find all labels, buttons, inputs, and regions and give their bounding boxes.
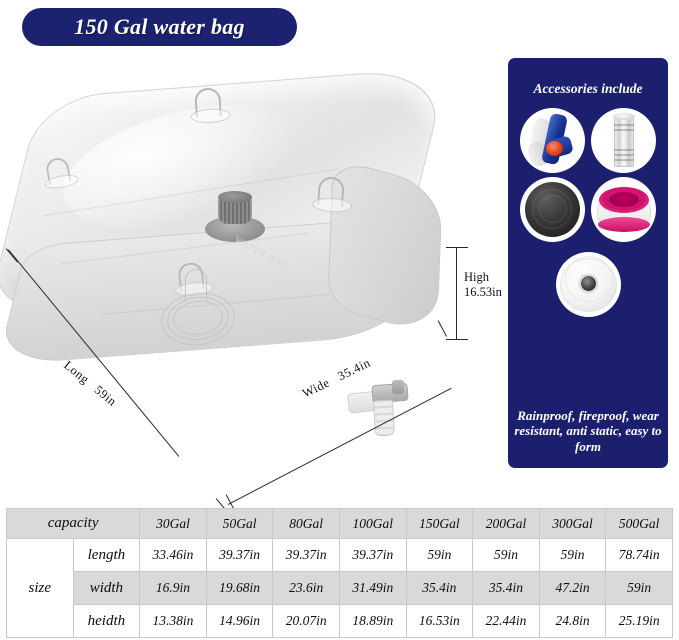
loop-handle-icon	[194, 87, 222, 118]
clear-tube-icon	[591, 108, 656, 173]
coiled-hose-icon	[155, 267, 255, 349]
rubber-cap-icon	[520, 177, 585, 242]
spec-cell: 33.46in	[140, 539, 207, 572]
height-label-name: High	[464, 270, 502, 285]
row-label-width: width	[73, 572, 140, 605]
table-row: size length 33.46in 39.37in 39.37in 39.3…	[7, 539, 673, 572]
spec-cell: 47.2in	[539, 572, 606, 605]
tape-pink-inner	[609, 192, 639, 207]
capacity-col-header: 200Gal	[473, 509, 540, 539]
tube-cap	[613, 113, 635, 120]
spec-table-head: capacity 30Gal 50Gal 80Gal 100Gal 150Gal…	[7, 509, 673, 539]
spec-cell: 18.89in	[339, 605, 406, 638]
height-tick-bottom	[446, 339, 468, 340]
spec-cell: 59in	[473, 539, 540, 572]
spec-cell: 20.07in	[273, 605, 340, 638]
accessories-grid	[516, 108, 660, 321]
tube-rib	[614, 159, 634, 161]
spec-header-row: capacity 30Gal 50Gal 80Gal 100Gal 150Gal…	[7, 509, 673, 539]
ball-valve-icon	[520, 108, 585, 173]
capacity-col-header: 50Gal	[206, 509, 273, 539]
specification-table-wrap: capacity 30Gal 50Gal 80Gal 100Gal 150Gal…	[6, 508, 673, 638]
height-label-value: 16.53in	[464, 285, 502, 300]
product-illustration: WATER BAG High 16.53in Long 59in Wide 35…	[0, 52, 500, 502]
spec-cell: 22.44in	[473, 605, 540, 638]
spec-cell: 14.96in	[206, 605, 273, 638]
spec-cell: 35.4in	[473, 572, 540, 605]
outlet-valve-icon	[348, 382, 420, 442]
spec-cell: 59in	[606, 572, 673, 605]
row-label-length: length	[73, 539, 140, 572]
valve-spindle	[392, 380, 404, 394]
spec-cell: 31.49in	[339, 572, 406, 605]
accessories-row	[516, 108, 660, 173]
capacity-col-header: 100Gal	[339, 509, 406, 539]
size-header: size	[7, 539, 74, 638]
spec-cell: 39.37in	[273, 539, 340, 572]
spec-cell: 24.8in	[539, 605, 606, 638]
cap-top	[218, 191, 252, 203]
spec-cell: 59in	[539, 539, 606, 572]
tube-rib	[614, 149, 634, 151]
title-badge: 150 Gal water bag	[22, 8, 297, 46]
spec-cell: 78.74in	[606, 539, 673, 572]
height-dimension-line	[456, 248, 457, 340]
spec-cell: 16.9in	[140, 572, 207, 605]
capacity-header: capacity	[7, 509, 140, 539]
table-row: width 16.9in 19.68in 23.6in 31.49in 35.4…	[7, 572, 673, 605]
tape-roll-icon	[591, 177, 656, 242]
filler-cap-icon	[205, 194, 265, 242]
capacity-col-header: 80Gal	[273, 509, 340, 539]
spec-cell: 39.37in	[339, 539, 406, 572]
title-badge-label: 150 Gal water bag	[74, 14, 245, 40]
capacity-col-header: 300Gal	[539, 509, 606, 539]
rubber-swirl	[539, 195, 567, 223]
tube-rib	[614, 154, 634, 156]
accessories-row	[516, 246, 660, 317]
spec-cell: 19.68in	[206, 572, 273, 605]
height-dimension-label: High 16.53in	[464, 270, 502, 301]
flange-disc-icon	[556, 252, 621, 317]
spec-cell: 16.53in	[406, 605, 473, 638]
accessories-row	[516, 177, 660, 242]
accessories-features-text: Rainproof, fireproof, wear resistant, an…	[514, 408, 662, 454]
accessories-panel: Accessories include	[508, 58, 668, 468]
spec-cell: 25.19in	[606, 605, 673, 638]
spec-cell: 35.4in	[406, 572, 473, 605]
water-bag-graphic: WATER BAG	[0, 52, 500, 502]
table-row: heidth 13.38in 14.96in 20.07in 18.89in 1…	[7, 605, 673, 638]
loop-handle-icon	[317, 176, 345, 208]
row-label-height: heidth	[73, 605, 140, 638]
specification-table: capacity 30Gal 50Gal 80Gal 100Gal 150Gal…	[6, 508, 673, 638]
capacity-col-header: 150Gal	[406, 509, 473, 539]
capacity-col-header: 30Gal	[140, 509, 207, 539]
hose-stem	[185, 269, 207, 303]
accessories-panel-title: Accessories include	[508, 81, 668, 97]
tape-pink-base	[598, 217, 650, 232]
capacity-col-header: 500Gal	[606, 509, 673, 539]
spec-cell: 13.38in	[140, 605, 207, 638]
spec-cell: 59in	[406, 539, 473, 572]
spec-cell: 23.6in	[273, 572, 340, 605]
tube-rib	[614, 124, 634, 126]
tube-rib	[614, 129, 634, 131]
valve-red-handle	[546, 141, 563, 156]
height-tick-top	[446, 247, 468, 248]
flange-hub	[581, 276, 596, 291]
spec-table-body: size length 33.46in 39.37in 39.37in 39.3…	[7, 539, 673, 638]
spec-cell: 39.37in	[206, 539, 273, 572]
